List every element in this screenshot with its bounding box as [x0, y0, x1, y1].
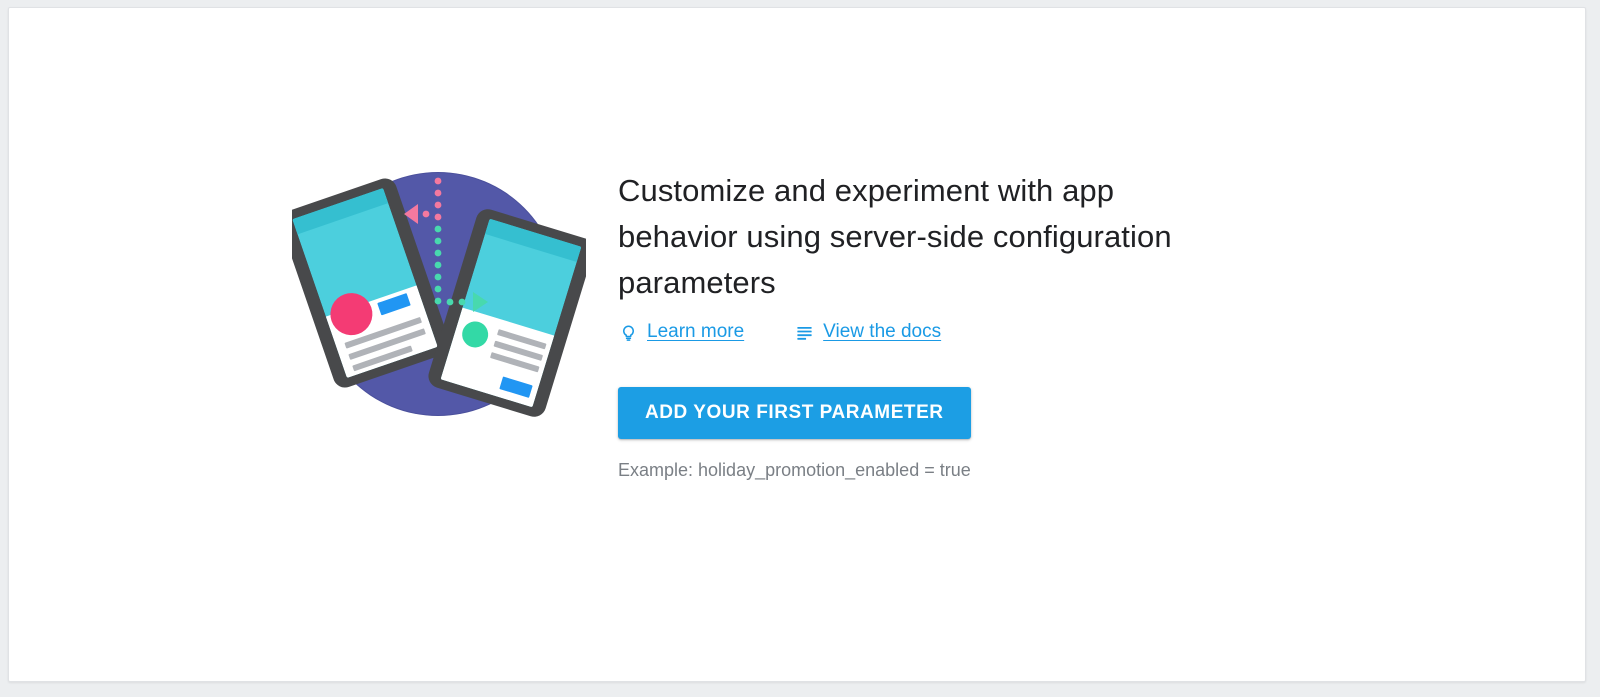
add-first-parameter-button[interactable]: ADD YOUR FIRST PARAMETER [618, 387, 971, 439]
empty-state-copy: Customize and experiment with app behavi… [618, 168, 1258, 481]
cta-container: ADD YOUR FIRST PARAMETER [618, 387, 1258, 439]
learn-more-label: Learn more [647, 320, 744, 344]
subject-icon [794, 322, 814, 342]
empty-state-container: Customize and experiment with app behavi… [9, 8, 1585, 681]
empty-state-card: Customize and experiment with app behavi… [8, 7, 1586, 682]
lightbulb-icon [618, 322, 638, 342]
view-docs-link[interactable]: View the docs [794, 320, 941, 344]
page-title: Customize and experiment with app behavi… [618, 168, 1228, 306]
learn-more-link[interactable]: Learn more [618, 320, 744, 344]
example-hint-text: Example: holiday_promotion_enabled = tru… [618, 459, 1258, 481]
view-docs-label: View the docs [823, 320, 941, 344]
two-phones-sync-illustration [292, 160, 586, 424]
helper-links: Learn more View the docs [618, 320, 1258, 344]
